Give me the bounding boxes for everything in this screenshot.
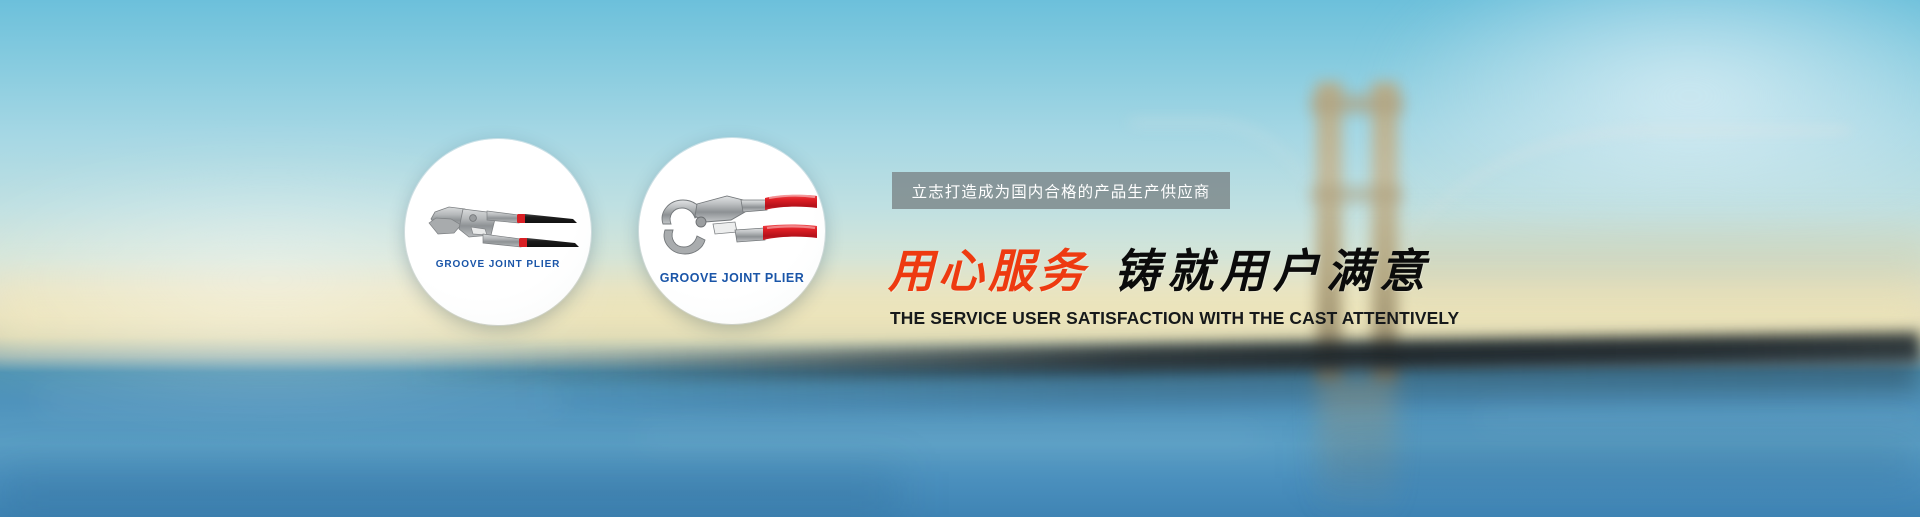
bridge-tower-crossbeam-top	[1312, 96, 1402, 112]
slogan-red-text: 用心服务	[888, 248, 1088, 294]
water-highlight	[40, 392, 560, 408]
bridge-tower-leg-right	[1372, 82, 1398, 382]
product-caption: GROOVE JOINT PLIER	[405, 259, 591, 270]
slogan-black-text: 铸就用户满意	[1114, 248, 1432, 294]
product-caption: GROOVE JOINT PLIER	[639, 271, 825, 285]
water-shadow	[0, 470, 900, 516]
groove-joint-plier-black-icon	[405, 139, 591, 325]
bridge-tower-leg-left	[1316, 82, 1342, 382]
water-highlight	[640, 430, 1260, 444]
water-highlight	[1480, 408, 1920, 426]
water-shadow	[1320, 440, 1920, 480]
product-circle-2[interactable]: GROOVE JOINT PLIER	[639, 138, 825, 324]
slogan-english-subtitle: THE SERVICE USER SATISFACTION WITH THE C…	[890, 308, 1459, 329]
groove-joint-plier-red-icon	[639, 138, 825, 324]
hero-banner: GROOVE JOINT PLIER	[0, 0, 1920, 517]
slogan: 用心服务 铸就用户满意	[888, 248, 1432, 294]
tagline-text: 立志打造成为国内合格的产品生产供应商	[912, 180, 1211, 202]
tagline-bar: 立志打造成为国内合格的产品生产供应商	[892, 172, 1230, 209]
product-circle-1[interactable]: GROOVE JOINT PLIER	[405, 139, 591, 325]
bridge-tower-crossbeam-bottom	[1312, 188, 1402, 201]
